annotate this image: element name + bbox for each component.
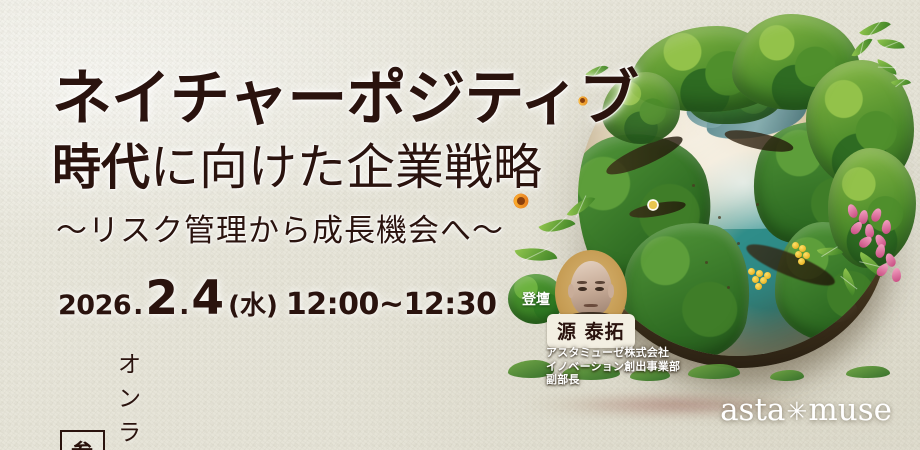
date-month: 2 xyxy=(145,278,177,320)
moss-tuft xyxy=(770,370,804,381)
title-line-2: 時代に向けた企業戦略 xyxy=(52,128,542,199)
logo-text-after: muse xyxy=(808,392,892,428)
astamuse-logo: asta ✳ muse xyxy=(720,392,892,428)
speaker-badge-label: 登壇 xyxy=(522,289,550,309)
affiliation-company: アスタミューゼ株式会社 xyxy=(546,346,680,360)
leaf xyxy=(877,36,904,52)
format-label: オンラインウェビナー xyxy=(118,345,142,450)
speaker-block: 登壇 源 泰拓 アスタミューゼ株式会社 イノベーション創出事業部 副部長 xyxy=(500,248,710,408)
asterisk-flower-icon: ✳ xyxy=(785,397,808,426)
subtitle: 〜リスク管理から成長機会へ〜 xyxy=(56,205,504,250)
affiliation-title: 副部長 xyxy=(546,373,680,387)
date-day-of-week: (水) xyxy=(223,285,278,322)
title-line-2-bold: 時代 xyxy=(52,139,150,196)
speaker-affiliation: アスタミューゼ株式会社 イノベーション創出事業部 副部長 xyxy=(546,346,680,387)
title-line-2-rest: に向けた企業戦略 xyxy=(150,139,542,196)
avatar-head xyxy=(570,261,612,315)
speaker-name: 源 泰拓 xyxy=(557,321,625,343)
bottom-info-row: 参加費無料 オンラインウェビナー xyxy=(60,345,142,450)
date-line: 2026 . 2 . 4 (水) 12:00~12:30 xyxy=(58,278,497,322)
affiliation-department: イノベーション創出事業部 xyxy=(546,360,680,374)
moss-tuft xyxy=(846,366,890,378)
speck xyxy=(737,242,740,245)
logo-text-before: asta xyxy=(720,392,785,428)
avatar-eye xyxy=(595,287,604,291)
date-separator: . xyxy=(131,290,145,321)
avatar-ear xyxy=(608,284,614,297)
date-separator: . xyxy=(177,290,191,321)
speaker-name-pill: 源 泰拓 xyxy=(547,314,635,348)
free-admission-badge: 参加費無料 xyxy=(60,430,105,450)
webinar-banner: ネイチャーポジティブ 時代に向けた企業戦略 〜リスク管理から成長機会へ〜 202… xyxy=(0,0,920,450)
date-day: 4 xyxy=(191,278,223,320)
white-flower xyxy=(642,194,664,216)
avatar-eye xyxy=(578,287,587,291)
title-line-1: ネイチャーポジティブ xyxy=(52,50,638,137)
date-time-range: 12:00~12:30 xyxy=(278,287,497,322)
speck xyxy=(718,216,721,219)
date-year: 2026 xyxy=(58,290,131,321)
